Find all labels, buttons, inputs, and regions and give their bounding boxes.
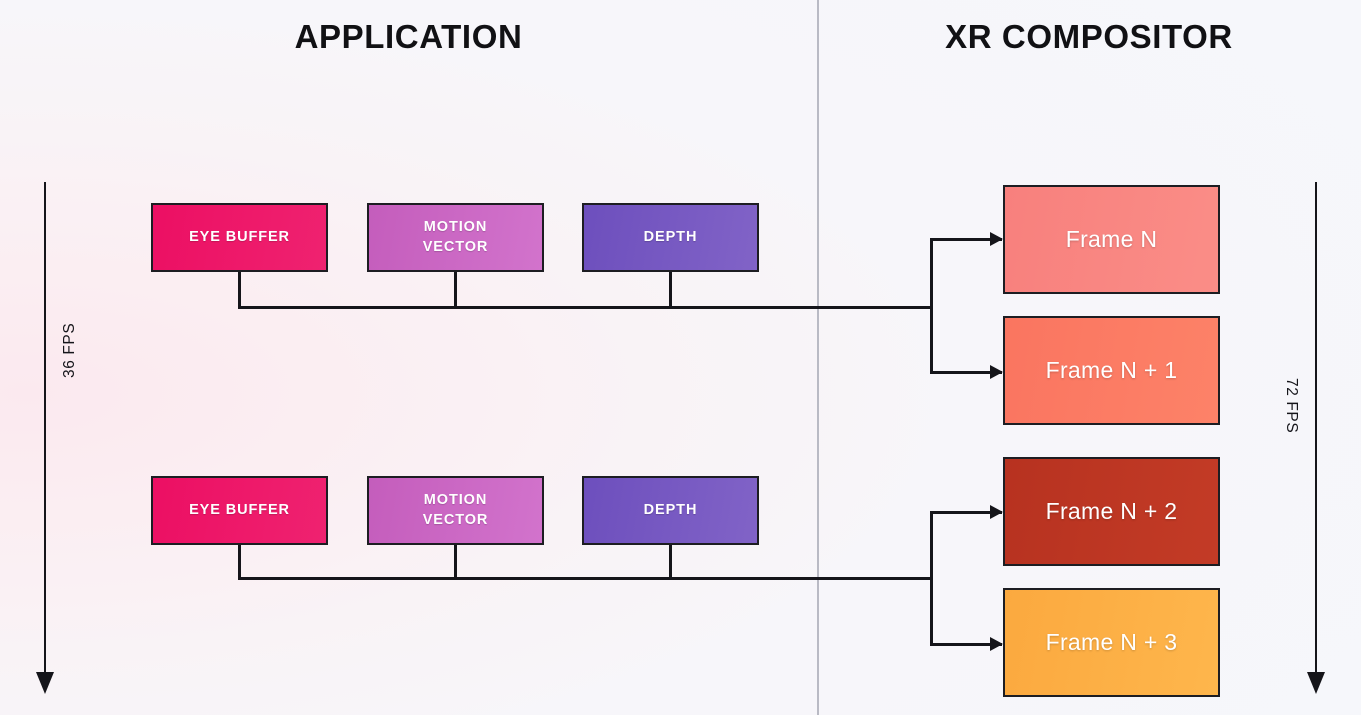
frame-box-frame-n-2[interactable]: Frame N + 2	[1003, 457, 1220, 566]
arrow-right-icon-frame-n-3	[990, 637, 1003, 651]
frame-box-frame-n[interactable]: Frame N	[1003, 185, 1220, 294]
fps-label-left: 36 FPS	[61, 323, 79, 378]
axis-shaft-icon	[44, 182, 46, 676]
app-box-depth-row2[interactable]: DEPTH	[582, 476, 759, 545]
fps-label-right: 72 FPS	[1282, 378, 1300, 433]
app-box-motion-vector-row1[interactable]: MOTION VECTOR	[367, 203, 544, 272]
wire-riser-row2	[930, 511, 933, 645]
arrow-right-icon-frame-n-2	[990, 505, 1003, 519]
frame-box-frame-n-1[interactable]: Frame N + 1	[1003, 316, 1220, 425]
app-box-depth-row1[interactable]: DEPTH	[582, 203, 759, 272]
column-title-compositor: XR COMPOSITOR	[817, 18, 1361, 56]
fps-axis-left: 36 FPS	[25, 182, 65, 693]
wire-drop-motion-vector-row2	[454, 545, 457, 579]
wire-bus-row1	[238, 306, 932, 309]
wire-bus-row2	[238, 577, 932, 580]
app-box-eye-buffer-row1[interactable]: EYE BUFFER	[151, 203, 328, 272]
wire-drop-depth-row2	[669, 545, 672, 579]
axis-shaft-icon	[1315, 182, 1317, 676]
frame-box-frame-n-3[interactable]: Frame N + 3	[1003, 588, 1220, 697]
arrow-right-icon-frame-n	[990, 232, 1003, 246]
column-title-application: APPLICATION	[0, 18, 817, 56]
wire-drop-depth-row1	[669, 272, 672, 308]
diagram-canvas: APPLICATION XR COMPOSITOR 36 FPS 72 FPS …	[0, 0, 1361, 715]
wire-drop-eye-buffer-row2	[238, 545, 241, 579]
fps-axis-right: 72 FPS	[1296, 182, 1336, 693]
arrow-down-icon	[36, 672, 54, 694]
app-box-eye-buffer-row2[interactable]: EYE BUFFER	[151, 476, 328, 545]
wire-drop-motion-vector-row1	[454, 272, 457, 308]
wire-drop-eye-buffer-row1	[238, 272, 241, 308]
arrow-right-icon-frame-n-1	[990, 365, 1003, 379]
wire-riser-row1	[930, 239, 933, 373]
app-box-motion-vector-row2[interactable]: MOTION VECTOR	[367, 476, 544, 545]
arrow-down-icon	[1307, 672, 1325, 694]
column-divider	[817, 0, 819, 715]
